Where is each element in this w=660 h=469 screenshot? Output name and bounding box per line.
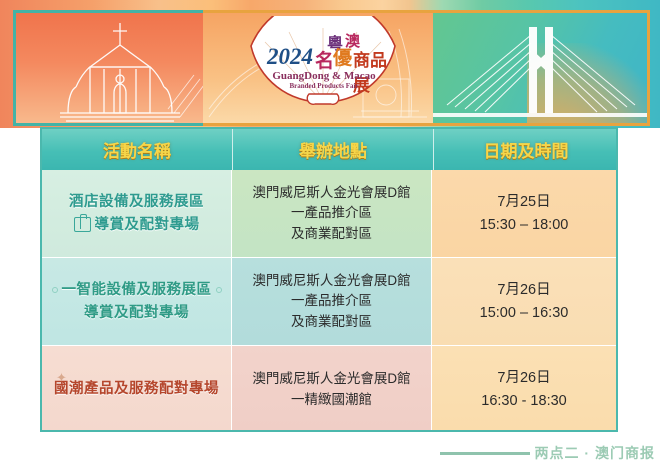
- column-header-datetime: 日期及時間: [434, 129, 618, 170]
- fair-logo: 粵 澳 2024 名 優 商品展 GuangDong & Macao Brand…: [243, 16, 403, 106]
- event-name-line2: 導賞及配對專場: [95, 214, 200, 236]
- cell-activity-name: 一智能設備及服務展區 導賞及配對專場: [42, 258, 232, 345]
- column-header-venue: 舉辦地點: [233, 129, 434, 170]
- dot-icon: [52, 287, 58, 293]
- venue-line1: 澳門威尼斯人金光會展D館: [252, 369, 410, 389]
- logo-year: 2024: [267, 44, 313, 70]
- event-time: 15:00 – 16:30: [480, 302, 569, 324]
- event-name-line1-wrap: 一智能設備及服務展區: [52, 279, 222, 301]
- venue-line1: 澳門威尼斯人金光會展D館: [252, 183, 410, 203]
- event-name-line1: 國潮產品及服務配對專場: [54, 378, 219, 400]
- venue-line2: 一產品推介區: [291, 291, 372, 311]
- event-name-line1: 一智能設備及服務展區: [62, 279, 212, 301]
- event-time: 16:30 - 18:30: [481, 390, 566, 412]
- event-name-line2-wrap: 導賞及配對專場: [74, 214, 200, 236]
- logo-english-primary: GuangDong & Macao: [261, 70, 387, 82]
- venue-line2: 一精緻國潮館: [291, 390, 372, 410]
- cell-activity-name: ✦ 國潮產品及服務配對專場: [42, 346, 232, 432]
- ruins-of-st-pauls-icon: [16, 13, 206, 123]
- event-date: 7月26日: [497, 279, 550, 301]
- event-date: 7月26日: [497, 367, 550, 389]
- venue-line1: 澳門威尼斯人金光會展D館: [252, 271, 410, 291]
- banner-panel-left: [13, 10, 206, 126]
- table-header-row: 活動名稱 舉辦地點 日期及時間: [42, 129, 616, 170]
- cell-datetime: 7月26日 15:00 – 16:30: [432, 258, 616, 345]
- event-time: 15:30 – 18:00: [480, 214, 569, 236]
- column-header-activity-name: 活動名稱: [42, 129, 233, 170]
- cell-datetime: 7月25日 15:30 – 18:00: [432, 170, 616, 257]
- cell-venue: 澳門威尼斯人金光會展D館 一產品推介區 及商業配對區: [232, 258, 432, 345]
- event-name-line2: 導賞及配對專場: [84, 302, 189, 324]
- logo-char-ming: 名: [315, 46, 334, 73]
- venue-line2: 一產品推介區: [291, 203, 372, 223]
- logo-char-you: 優: [333, 43, 352, 70]
- schedule-table: 活動名稱 舉辦地點 日期及時間 酒店設備及服務展區 導賞及配對專場 澳門威尼斯人…: [40, 127, 618, 432]
- venue-line3: 及商業配對區: [291, 312, 372, 332]
- cell-venue: 澳門威尼斯人金光會展D館 一產品推介區 及商業配對區: [232, 170, 432, 257]
- dot-icon: [216, 287, 222, 293]
- logo-english-secondary: Branded Products Fair: [261, 82, 387, 90]
- sai-van-bridge-icon: [433, 13, 647, 123]
- watermark: 两点二 · 澳门商报: [440, 443, 655, 463]
- table-row: 一智能設備及服務展區 導賞及配對專場 澳門威尼斯人金光會展D館 一產品推介區 及…: [42, 257, 616, 345]
- banner-panel-right: [433, 10, 650, 126]
- watermark-text: 两点二 · 澳门商报: [535, 443, 655, 463]
- cell-venue: 澳門威尼斯人金光會展D館 一精緻國潮館: [232, 346, 432, 432]
- event-date: 7月25日: [497, 191, 550, 213]
- sparkle-icon: ✦: [56, 370, 67, 386]
- cell-activity-name: 酒店設備及服務展區 導賞及配對專場: [42, 170, 232, 257]
- top-banner: 粵 澳 2024 名 優 商品展 GuangDong & Macao Brand…: [0, 0, 660, 128]
- table-row: 酒店設備及服務展區 導賞及配對專場 澳門威尼斯人金光會展D館 一產品推介區 及商…: [42, 170, 616, 257]
- table-row: ✦ 國潮產品及服務配對專場 澳門威尼斯人金光會展D館 一精緻國潮館 7月26日 …: [42, 345, 616, 432]
- event-name-line1: 酒店設備及服務展區: [69, 191, 204, 213]
- venue-line3: 及商業配對區: [291, 224, 372, 244]
- luggage-icon: [74, 217, 91, 232]
- watermark-rule: [440, 452, 530, 455]
- cell-datetime: 7月26日 16:30 - 18:30: [432, 346, 616, 432]
